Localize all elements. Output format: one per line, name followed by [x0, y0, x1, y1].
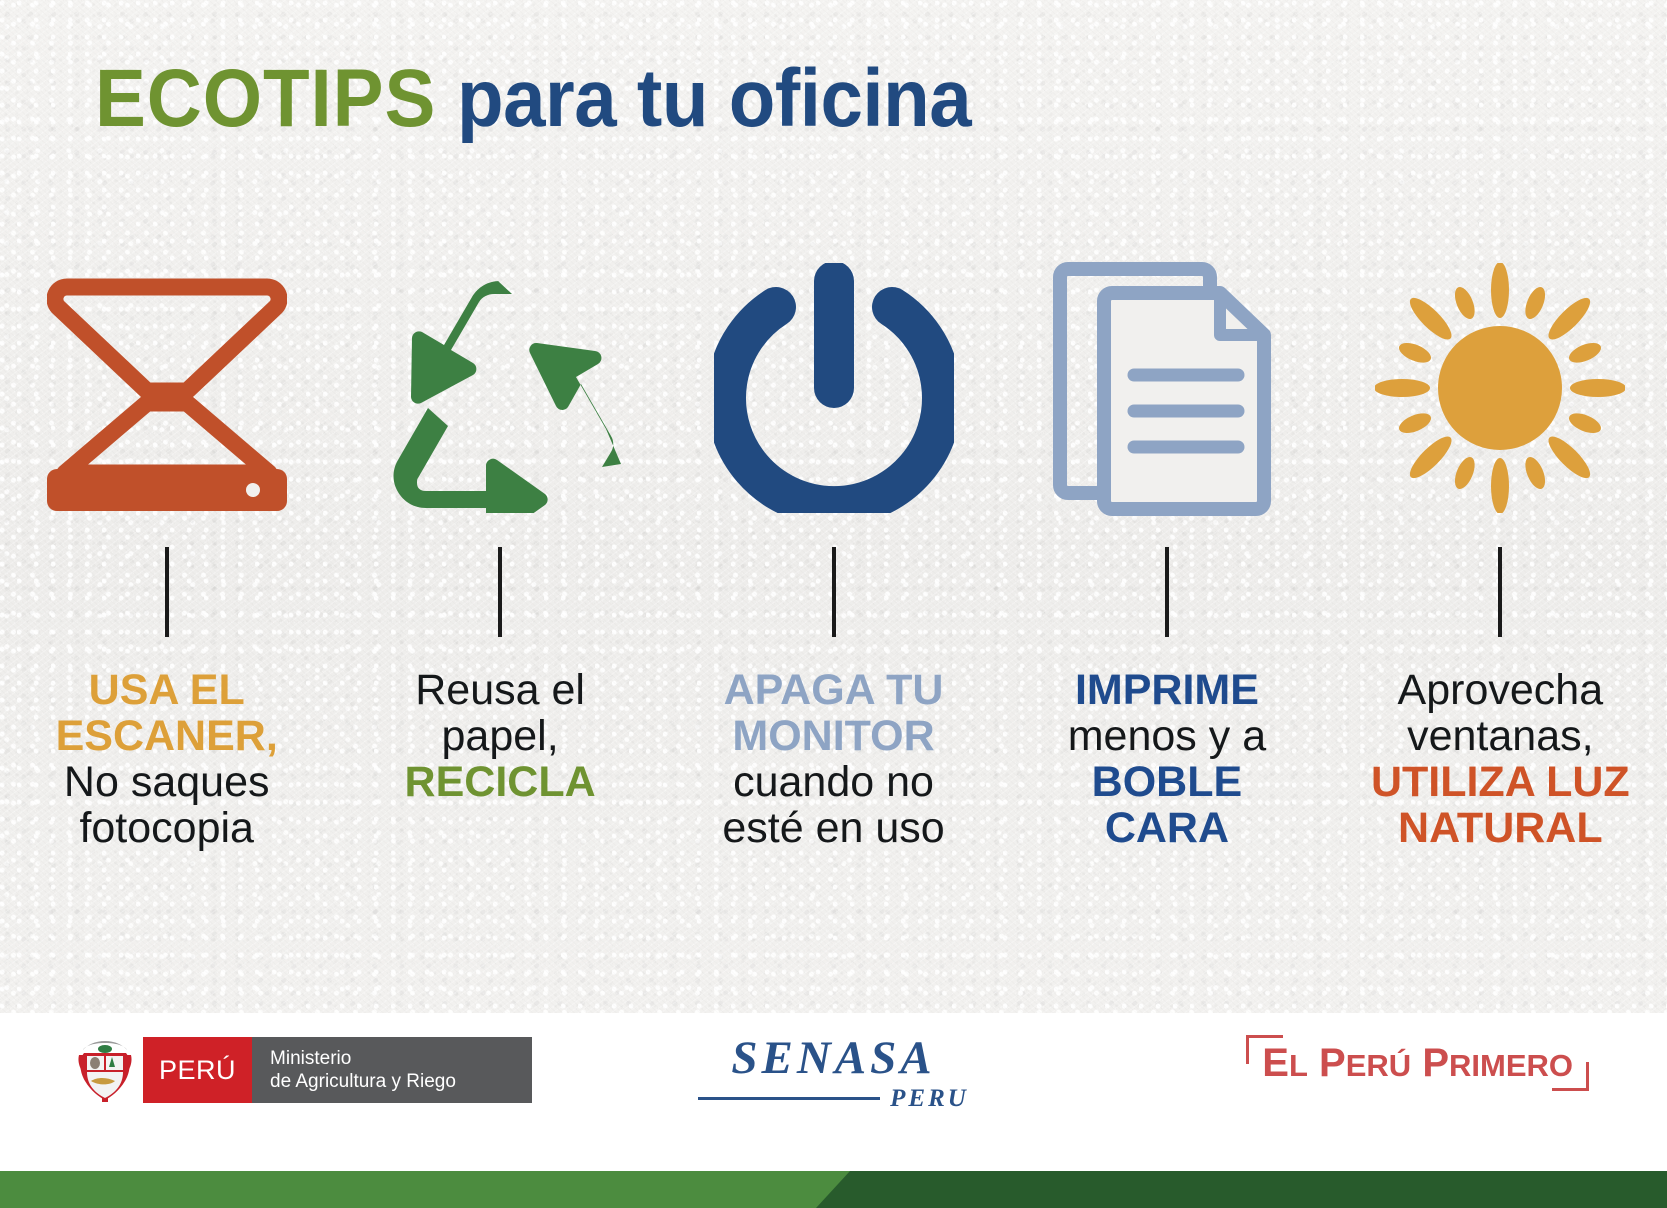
caption-line: BOBLE [1000, 759, 1333, 805]
connector-line [832, 547, 836, 637]
caption-line: Reusa el [333, 667, 666, 713]
caption-line: APAGA TU [667, 667, 1000, 713]
tip-column-recycle: Reusa el papel, RECICLA [333, 250, 666, 950]
caption-line: CARA [1000, 805, 1333, 851]
page-title: ECOTIPS para tu oficina [95, 58, 971, 140]
tip-column-daylight: Aprovecha ventanas, UTILIZA LUZ NATURAL [1334, 250, 1667, 950]
tip-column-power: APAGA TU MONITOR cuando no esté en uso [667, 250, 1000, 950]
caption-line: RECICLA [333, 759, 666, 805]
title-highlight: ECOTIPS [95, 53, 436, 144]
footer-logos: PERÚ Ministerio de Agricultura y Riego S… [0, 1013, 1667, 1171]
documents-icon [1052, 250, 1282, 525]
caption-line: ventanas, [1334, 713, 1667, 759]
caption-line: Aprovecha [1334, 667, 1667, 713]
primero-w2-rest: ERÚ [1346, 1048, 1411, 1083]
senasa-rule [698, 1097, 880, 1100]
tip-caption: USA EL ESCANER, No saques fotocopia [0, 667, 333, 851]
caption-line: No saques [0, 759, 333, 805]
connector-line [1498, 547, 1502, 637]
tip-caption: IMPRIME menos y a BOBLE CARA [1000, 667, 1333, 851]
primero-w3-cap: P [1422, 1041, 1449, 1085]
recycle-icon [375, 250, 625, 525]
strip-light-segment [0, 1171, 850, 1208]
tip-column-print: IMPRIME menos y a BOBLE CARA [1000, 250, 1333, 950]
tip-caption: Reusa el papel, RECICLA [333, 667, 666, 805]
sun-icon [1375, 250, 1625, 525]
caption-line: NATURAL [1334, 805, 1667, 851]
power-icon [714, 250, 954, 525]
connector-line [1165, 547, 1169, 637]
tip-caption: Aprovecha ventanas, UTILIZA LUZ NATURAL [1334, 667, 1667, 851]
caption-line: papel, [333, 713, 666, 759]
primero-wordmark: EL PERÚ PRIMERO [1262, 1043, 1573, 1083]
ecotips-poster: ECOTIPS para tu oficina USA EL [0, 0, 1667, 1208]
el-peru-primero-logo: EL PERÚ PRIMERO [1246, 1035, 1589, 1091]
bracket-top-left [1246, 1035, 1283, 1064]
connector-line [498, 547, 502, 637]
connector-line [165, 547, 169, 637]
caption-line: IMPRIME [1000, 667, 1333, 713]
tips-row: USA EL ESCANER, No saques fotocopia [0, 250, 1667, 950]
caption-line: esté en uso [667, 805, 1000, 851]
scanner-icon [47, 250, 287, 525]
caption-line: UTILIZA LUZ [1334, 759, 1667, 805]
caption-line: ESCANER, [0, 713, 333, 759]
primero-w1-rest: L [1289, 1048, 1308, 1083]
caption-line: menos y a [1000, 713, 1333, 759]
caption-line: fotocopia [0, 805, 333, 851]
caption-line: USA EL [0, 667, 333, 713]
bracket-bottom-right [1552, 1062, 1589, 1091]
bottom-color-strip [0, 1171, 1667, 1208]
title-rest: para tu oficina [436, 53, 971, 144]
senasa-wordmark: SENASA [731, 1035, 935, 1082]
tip-column-scanner: USA EL ESCANER, No saques fotocopia [0, 250, 333, 950]
tip-caption: APAGA TU MONITOR cuando no esté en uso [667, 667, 1000, 851]
senasa-subline: PERU [698, 1086, 969, 1111]
senasa-country: PERU [890, 1086, 969, 1111]
primero-w2-cap: P [1319, 1041, 1346, 1085]
caption-line: cuando no [667, 759, 1000, 805]
caption-line: MONITOR [667, 713, 1000, 759]
